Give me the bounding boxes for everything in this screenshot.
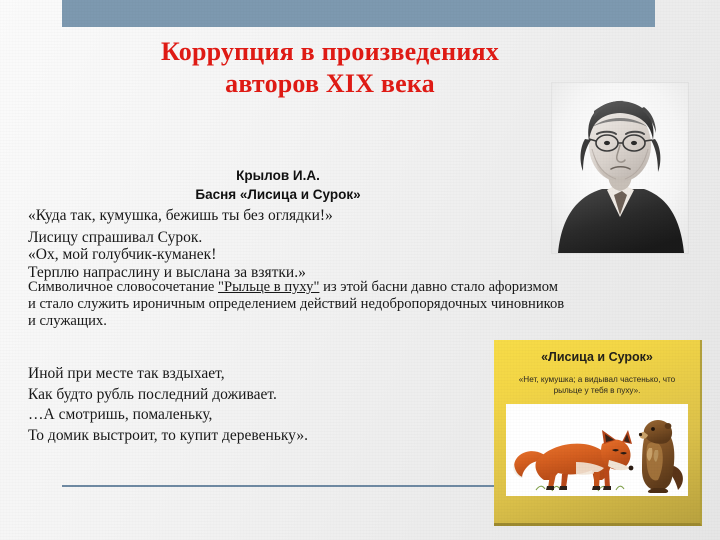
fable-card-quote-line-1: «Нет, кумушка; а видывал частенько, что: [519, 375, 676, 384]
aphorism-text-after: из этой басни давно стало афоризмом: [319, 279, 558, 295]
fable-quote-line-2: Лисицу спрашивал Сурок.: [28, 229, 498, 247]
verse-line-1: Иной при месте так вздыхает,: [28, 364, 468, 385]
aphorism-highlight-phrase: "Рыльце в пуху": [218, 279, 319, 295]
page-title: Коррупция в произведениях авторов XIX ве…: [52, 36, 608, 100]
verse-line-2: Как будто рубль последний доживает.: [28, 385, 468, 406]
verse-block: Иной при месте так вздыхает, Как будто р…: [28, 364, 468, 446]
aphorism-text-before: Символичное словосочетание: [28, 279, 218, 295]
horizontal-divider: [62, 485, 496, 487]
top-banner-bar: [62, 0, 655, 27]
verse-line-4: То домик выстроит, то купит деревеньку».: [28, 426, 468, 447]
fable-quote-line-1: «Куда так, кумушка, бежишь ты без оглядк…: [28, 207, 498, 225]
aphorism-line-1: Символичное словосочетание "Рыльце в пух…: [28, 279, 683, 296]
author-name: Крылов И.А.: [28, 166, 528, 185]
aphorism-line-3: и служащих.: [28, 313, 683, 330]
aphorism-line-2: и стало служить ироничным определением д…: [28, 296, 683, 313]
author-heading: Крылов И.А. Басня «Лисица и Сурок»: [28, 166, 528, 204]
slide-canvas: Коррупция в произведениях авторов XIX ве…: [0, 0, 720, 540]
fable-card-quote-line-2: рыльце у тебя в пуху».: [554, 386, 641, 395]
fable-illustration-card: «Лисица и Сурок» «Нет, кумушка; а видыва…: [494, 340, 702, 526]
fox-marmot-drawing: [506, 404, 688, 496]
verse-line-3: …А смотришь, помаленьку,: [28, 405, 468, 426]
fable-quote-line-3: «Ох, мой голубчик-куманек!: [28, 246, 498, 264]
fable-card-quote: «Нет, кумушка; а видывал частенько, что …: [504, 374, 690, 396]
aphorism-paragraph: Символичное словосочетание "Рыльце в пух…: [28, 279, 683, 331]
fox-and-marmot-illustration-icon: [506, 404, 688, 496]
portrait-photo-icon: [552, 83, 688, 253]
page-title-line-2: авторов XIX века: [52, 68, 608, 100]
author-portrait-image: [552, 83, 688, 253]
author-work-title: Басня «Лисица и Сурок»: [28, 185, 528, 204]
fable-quote-block: «Куда так, кумушка, бежишь ты без оглядк…: [28, 207, 498, 281]
page-title-line-1: Коррупция в произведениях: [52, 36, 608, 68]
fable-card-title: «Лисица и Сурок»: [502, 350, 692, 364]
